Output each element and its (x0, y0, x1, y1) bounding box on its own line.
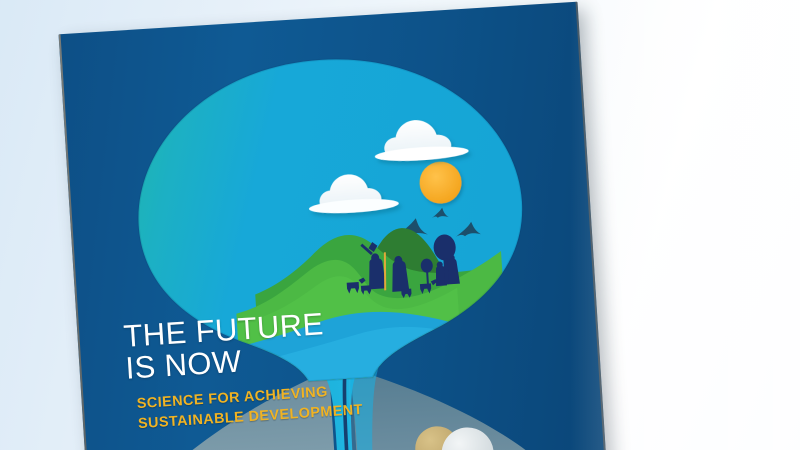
cover-face: THE FUTURE IS NOW SCIENCE FOR ACHIEVING … (59, 2, 611, 450)
screenshot-canvas: THE FUTURE IS NOW SCIENCE FOR ACHIEVING … (0, 0, 800, 450)
book-cover: THE FUTURE IS NOW SCIENCE FOR ACHIEVING … (59, 2, 611, 450)
cover-text-block: THE FUTURE IS NOW SCIENCE FOR ACHIEVING … (123, 300, 460, 435)
